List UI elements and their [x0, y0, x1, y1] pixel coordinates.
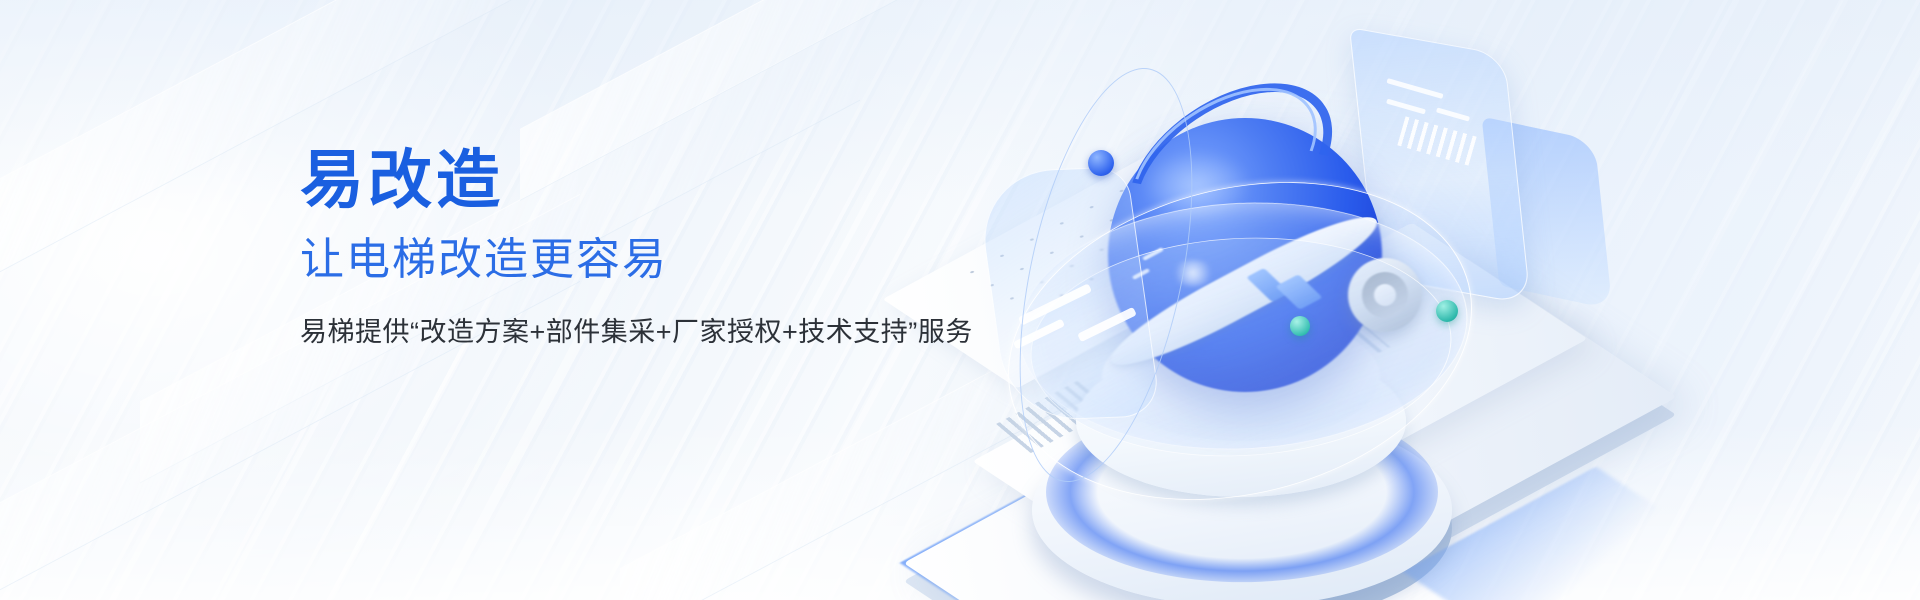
accent-bead-teal [1290, 316, 1310, 336]
accent-bead-blue [1088, 150, 1114, 176]
accent-bead-teal [1436, 300, 1458, 322]
hero-banner: 易改造 让电梯改造更容易 易梯提供“改造方案+部件集采+厂家授权+技术支持”服务 [0, 0, 1920, 600]
hero-copy: 易改造 让电梯改造更容易 易梯提供“改造方案+部件集采+厂家授权+技术支持”服务 [300, 148, 1080, 350]
hero-description: 易梯提供“改造方案+部件集采+厂家授权+技术支持”服务 [300, 316, 1080, 350]
page-title: 易改造 [300, 148, 1080, 212]
hero-subtitle: 让电梯改造更容易 [300, 238, 1080, 282]
